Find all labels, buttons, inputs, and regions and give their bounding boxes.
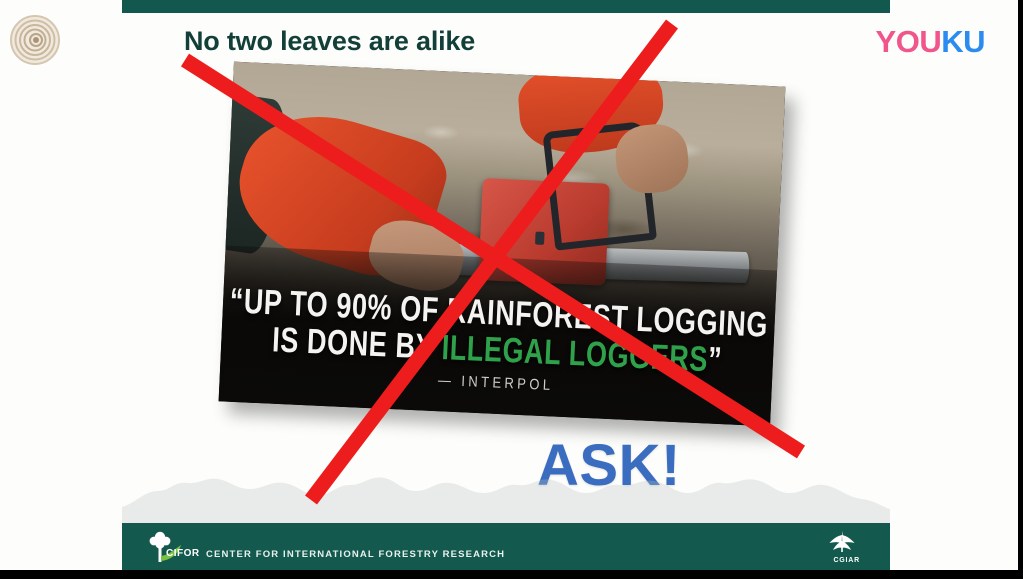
slide-top-band xyxy=(122,0,890,13)
presentation-slide: No two leaves are alike YOUKU “UP TO 90%… xyxy=(0,0,1018,570)
letterbox-bottom-edge xyxy=(0,570,1023,579)
cifor-wordmark: CIFOR xyxy=(166,548,200,559)
tree-canopy-silhouette xyxy=(122,467,890,523)
cgiar-wordmark: CGIAR xyxy=(833,557,860,564)
youku-watermark: YOUKU xyxy=(876,26,985,57)
cifor-logo-icon xyxy=(142,528,194,566)
chainsaw-photo: “UP TO 90% OF RAINFOREST LOGGING IS DONE… xyxy=(219,62,786,427)
tree-ring-logo xyxy=(9,14,61,66)
slide-footer-bar: CIFOR CENTER FOR INTERNATIONAL FORESTRY … xyxy=(122,523,890,570)
slide-title: No two leaves are alike xyxy=(184,26,475,57)
chainsaw-vent xyxy=(535,232,545,245)
quote-line-2-prefix: IS DONE BY xyxy=(271,320,442,367)
youku-watermark-ku: KU xyxy=(941,24,985,59)
youku-watermark-you: YOU xyxy=(876,24,942,59)
quote-line-2-closing-quote: ” xyxy=(707,340,723,380)
letterbox-right-edge xyxy=(1018,0,1023,579)
footer-tagline: CENTER FOR INTERNATIONAL FORESTRY RESEAR… xyxy=(206,549,505,560)
video-player-frame: No two leaves are alike YOUKU “UP TO 90%… xyxy=(0,0,1023,579)
